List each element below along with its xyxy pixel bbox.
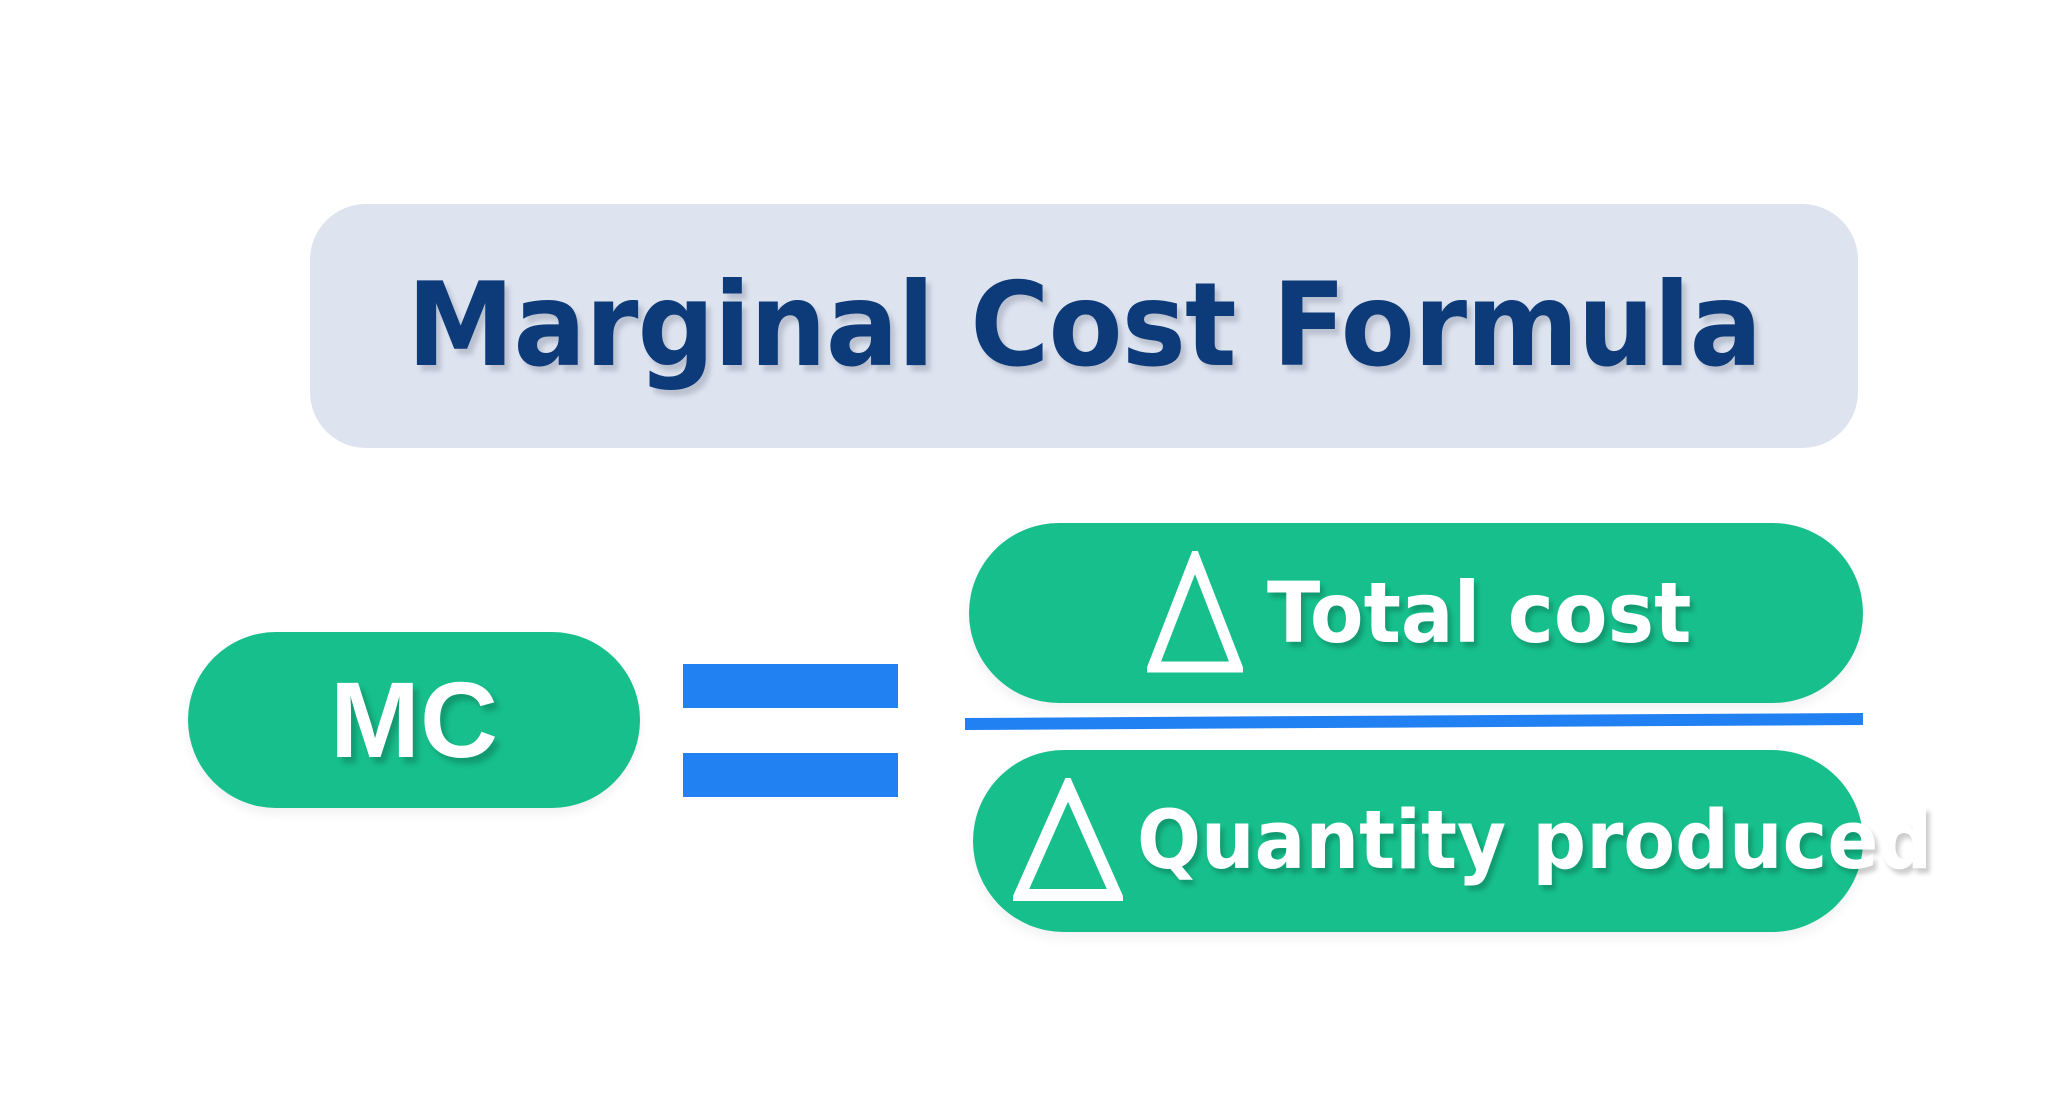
fraction-bar (965, 713, 1863, 730)
page-title: Marginal Cost Formula (407, 268, 1761, 384)
equals-bar-bottom (683, 753, 898, 797)
equals-sign (683, 664, 898, 798)
delta-triangle-icon (1013, 778, 1123, 904)
numerator-label: Total cost (1267, 571, 1691, 655)
denominator-pill: Quantity produced (973, 750, 1863, 932)
delta-triangle-icon (1147, 551, 1243, 675)
fraction: Total cost Quantity produced (963, 520, 1863, 932)
mc-term-pill: MC (188, 632, 640, 808)
denominator-label: Quantity produced (1137, 801, 1932, 882)
equals-bar-top (683, 664, 898, 708)
title-banner: Marginal Cost Formula (310, 204, 1858, 448)
formula-infographic: Marginal Cost Formula MC Total cost Quan… (0, 0, 2061, 1097)
mc-label: MC (330, 666, 498, 774)
numerator-pill: Total cost (969, 523, 1863, 703)
